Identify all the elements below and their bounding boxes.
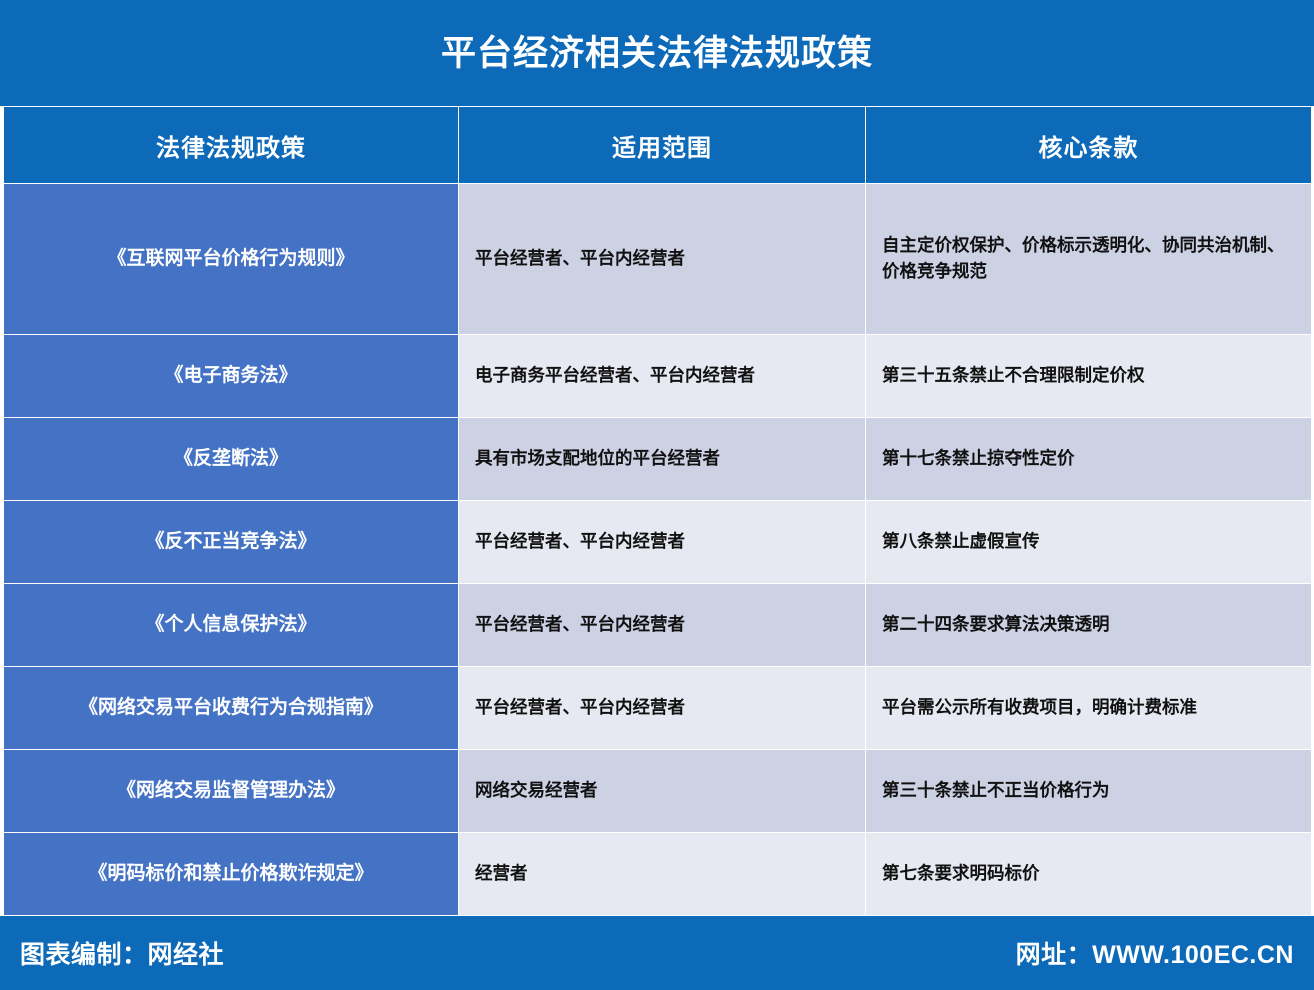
cell-law-name: 《反不正当竞争法》: [4, 500, 459, 583]
cell-core-clause: 自主定价权保护、价格标示透明化、协同共治机制、价格竞争规范: [866, 184, 1312, 335]
table-header: 法律法规政策 适用范围 核心条款: [4, 107, 1312, 184]
cell-law-name: 《反垄断法》: [4, 417, 459, 500]
cell-core-clause: 第三十五条禁止不合理限制定价权: [866, 334, 1312, 417]
table-row: 《电子商务法》电子商务平台经营者、平台内经营者第三十五条禁止不合理限制定价权: [4, 334, 1312, 417]
table-row: 《明码标价和禁止价格欺诈规定》经营者第七条要求明码标价: [4, 832, 1312, 915]
website-label: 网址：WWW.100EC.CN: [1016, 935, 1294, 971]
cell-law-name: 《互联网平台价格行为规则》: [4, 184, 459, 335]
cell-core-clause: 第八条禁止虚假宣传: [866, 500, 1312, 583]
cell-scope: 具有市场支配地位的平台经营者: [459, 417, 866, 500]
footer-banner: 图表编制：网经社 网址：WWW.100EC.CN: [0, 916, 1314, 990]
policy-table: 法律法规政策 适用范围 核心条款 《互联网平台价格行为规则》平台经营者、平台内经…: [3, 106, 1312, 916]
table-row: 《个人信息保护法》平台经营者、平台内经营者第二十四条要求算法决策透明: [4, 583, 1312, 666]
cell-core-clause: 第二十四条要求算法决策透明: [866, 583, 1312, 666]
cell-core-clause: 第三十条禁止不正当价格行为: [866, 749, 1312, 832]
cell-scope: 平台经营者、平台内经营者: [459, 184, 866, 335]
cell-law-name: 《电子商务法》: [4, 334, 459, 417]
table-header-row: 法律法规政策 适用范围 核心条款: [4, 107, 1312, 184]
cell-law-name: 《个人信息保护法》: [4, 583, 459, 666]
table-body: 《互联网平台价格行为规则》平台经营者、平台内经营者自主定价权保护、价格标示透明化…: [4, 184, 1312, 916]
cell-law-name: 《明码标价和禁止价格欺诈规定》: [4, 832, 459, 915]
policy-table-container: 法律法规政策 适用范围 核心条款 《互联网平台价格行为规则》平台经营者、平台内经…: [0, 106, 1314, 916]
table-row: 《互联网平台价格行为规则》平台经营者、平台内经营者自主定价权保护、价格标示透明化…: [4, 184, 1312, 335]
cell-scope: 平台经营者、平台内经营者: [459, 500, 866, 583]
table-row: 《反不正当竞争法》平台经营者、平台内经营者第八条禁止虚假宣传: [4, 500, 1312, 583]
cell-core-clause: 平台需公示所有收费项目，明确计费标准: [866, 666, 1312, 749]
cell-core-clause: 第十七条禁止掠夺性定价: [866, 417, 1312, 500]
page-title: 平台经济相关法律法规政策: [441, 36, 873, 71]
cell-law-name: 《网络交易监督管理办法》: [4, 749, 459, 832]
table-row: 《网络交易监督管理办法》网络交易经营者第三十条禁止不正当价格行为: [4, 749, 1312, 832]
column-header-name: 法律法规政策: [4, 107, 459, 184]
chart-credit: 图表编制：网经社: [20, 935, 224, 971]
cell-scope: 经营者: [459, 832, 866, 915]
cell-scope: 网络交易经营者: [459, 749, 866, 832]
column-header-scope: 适用范围: [459, 107, 866, 184]
cell-scope: 平台经营者、平台内经营者: [459, 666, 866, 749]
table-row: 《反垄断法》具有市场支配地位的平台经营者第十七条禁止掠夺性定价: [4, 417, 1312, 500]
cell-scope: 平台经营者、平台内经营者: [459, 583, 866, 666]
table-row: 《网络交易平台收费行为合规指南》平台经营者、平台内经营者平台需公示所有收费项目，…: [4, 666, 1312, 749]
column-header-clause: 核心条款: [866, 107, 1312, 184]
cell-law-name: 《网络交易平台收费行为合规指南》: [4, 666, 459, 749]
cell-core-clause: 第七条要求明码标价: [866, 832, 1312, 915]
title-banner: 平台经济相关法律法规政策: [0, 0, 1314, 106]
infographic-page: 平台经济相关法律法规政策 法律法规政策 适用范围 核心条款 《互联网平台价格行为…: [0, 0, 1314, 990]
cell-scope: 电子商务平台经营者、平台内经营者: [459, 334, 866, 417]
